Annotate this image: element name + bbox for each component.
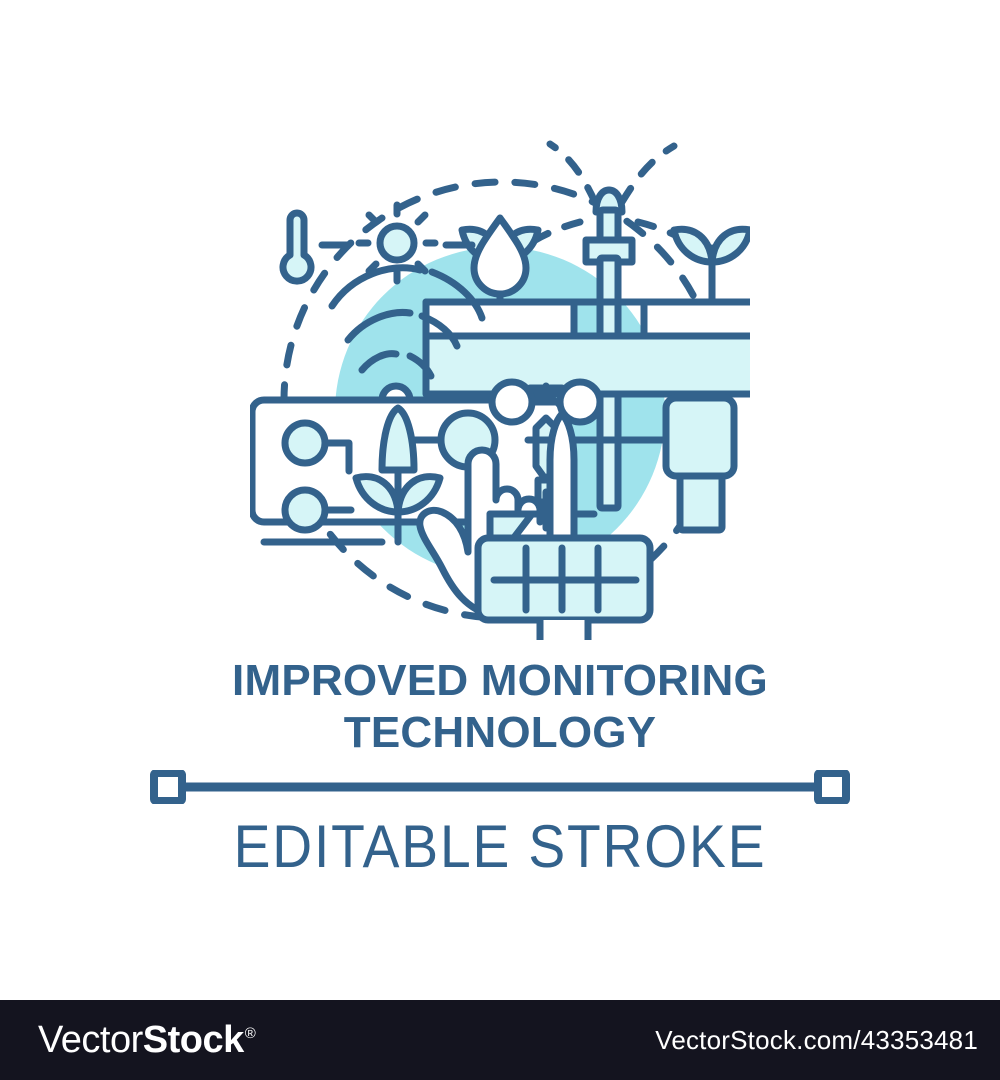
logo-text-bold: Stock [143,1019,244,1062]
rain-gauge-icon [666,398,734,530]
editable-stroke-caption: EDITABLE STROKE [150,812,849,881]
thermometer-icon [283,213,311,281]
logo-text-light: Vector [38,1019,143,1062]
footer-url[interactable]: VectorStock.com/43353481 [655,1025,978,1056]
page-title-line-1: IMPROVED MONITORING [120,655,880,707]
editable-stroke-rule [150,770,850,804]
footer-bar: VectorStock® VectorStock.com/43353481 [0,1000,1000,1080]
square-handle-left [154,773,182,801]
square-handle-right [818,773,846,801]
page-title: IMPROVED MONITORING TECHNOLOGY [120,655,880,759]
vectorstock-logo[interactable]: VectorStock® [38,1019,256,1062]
concept-illustration: .st { fill:none; stroke:#33628C; stroke-… [250,140,750,640]
logo-registered-mark: ® [245,1025,256,1042]
icon-canvas: .st { fill:none; stroke:#33628C; stroke-… [0,0,1000,1000]
page-title-line-2: TECHNOLOGY [120,707,880,759]
seedling-right [674,229,750,302]
